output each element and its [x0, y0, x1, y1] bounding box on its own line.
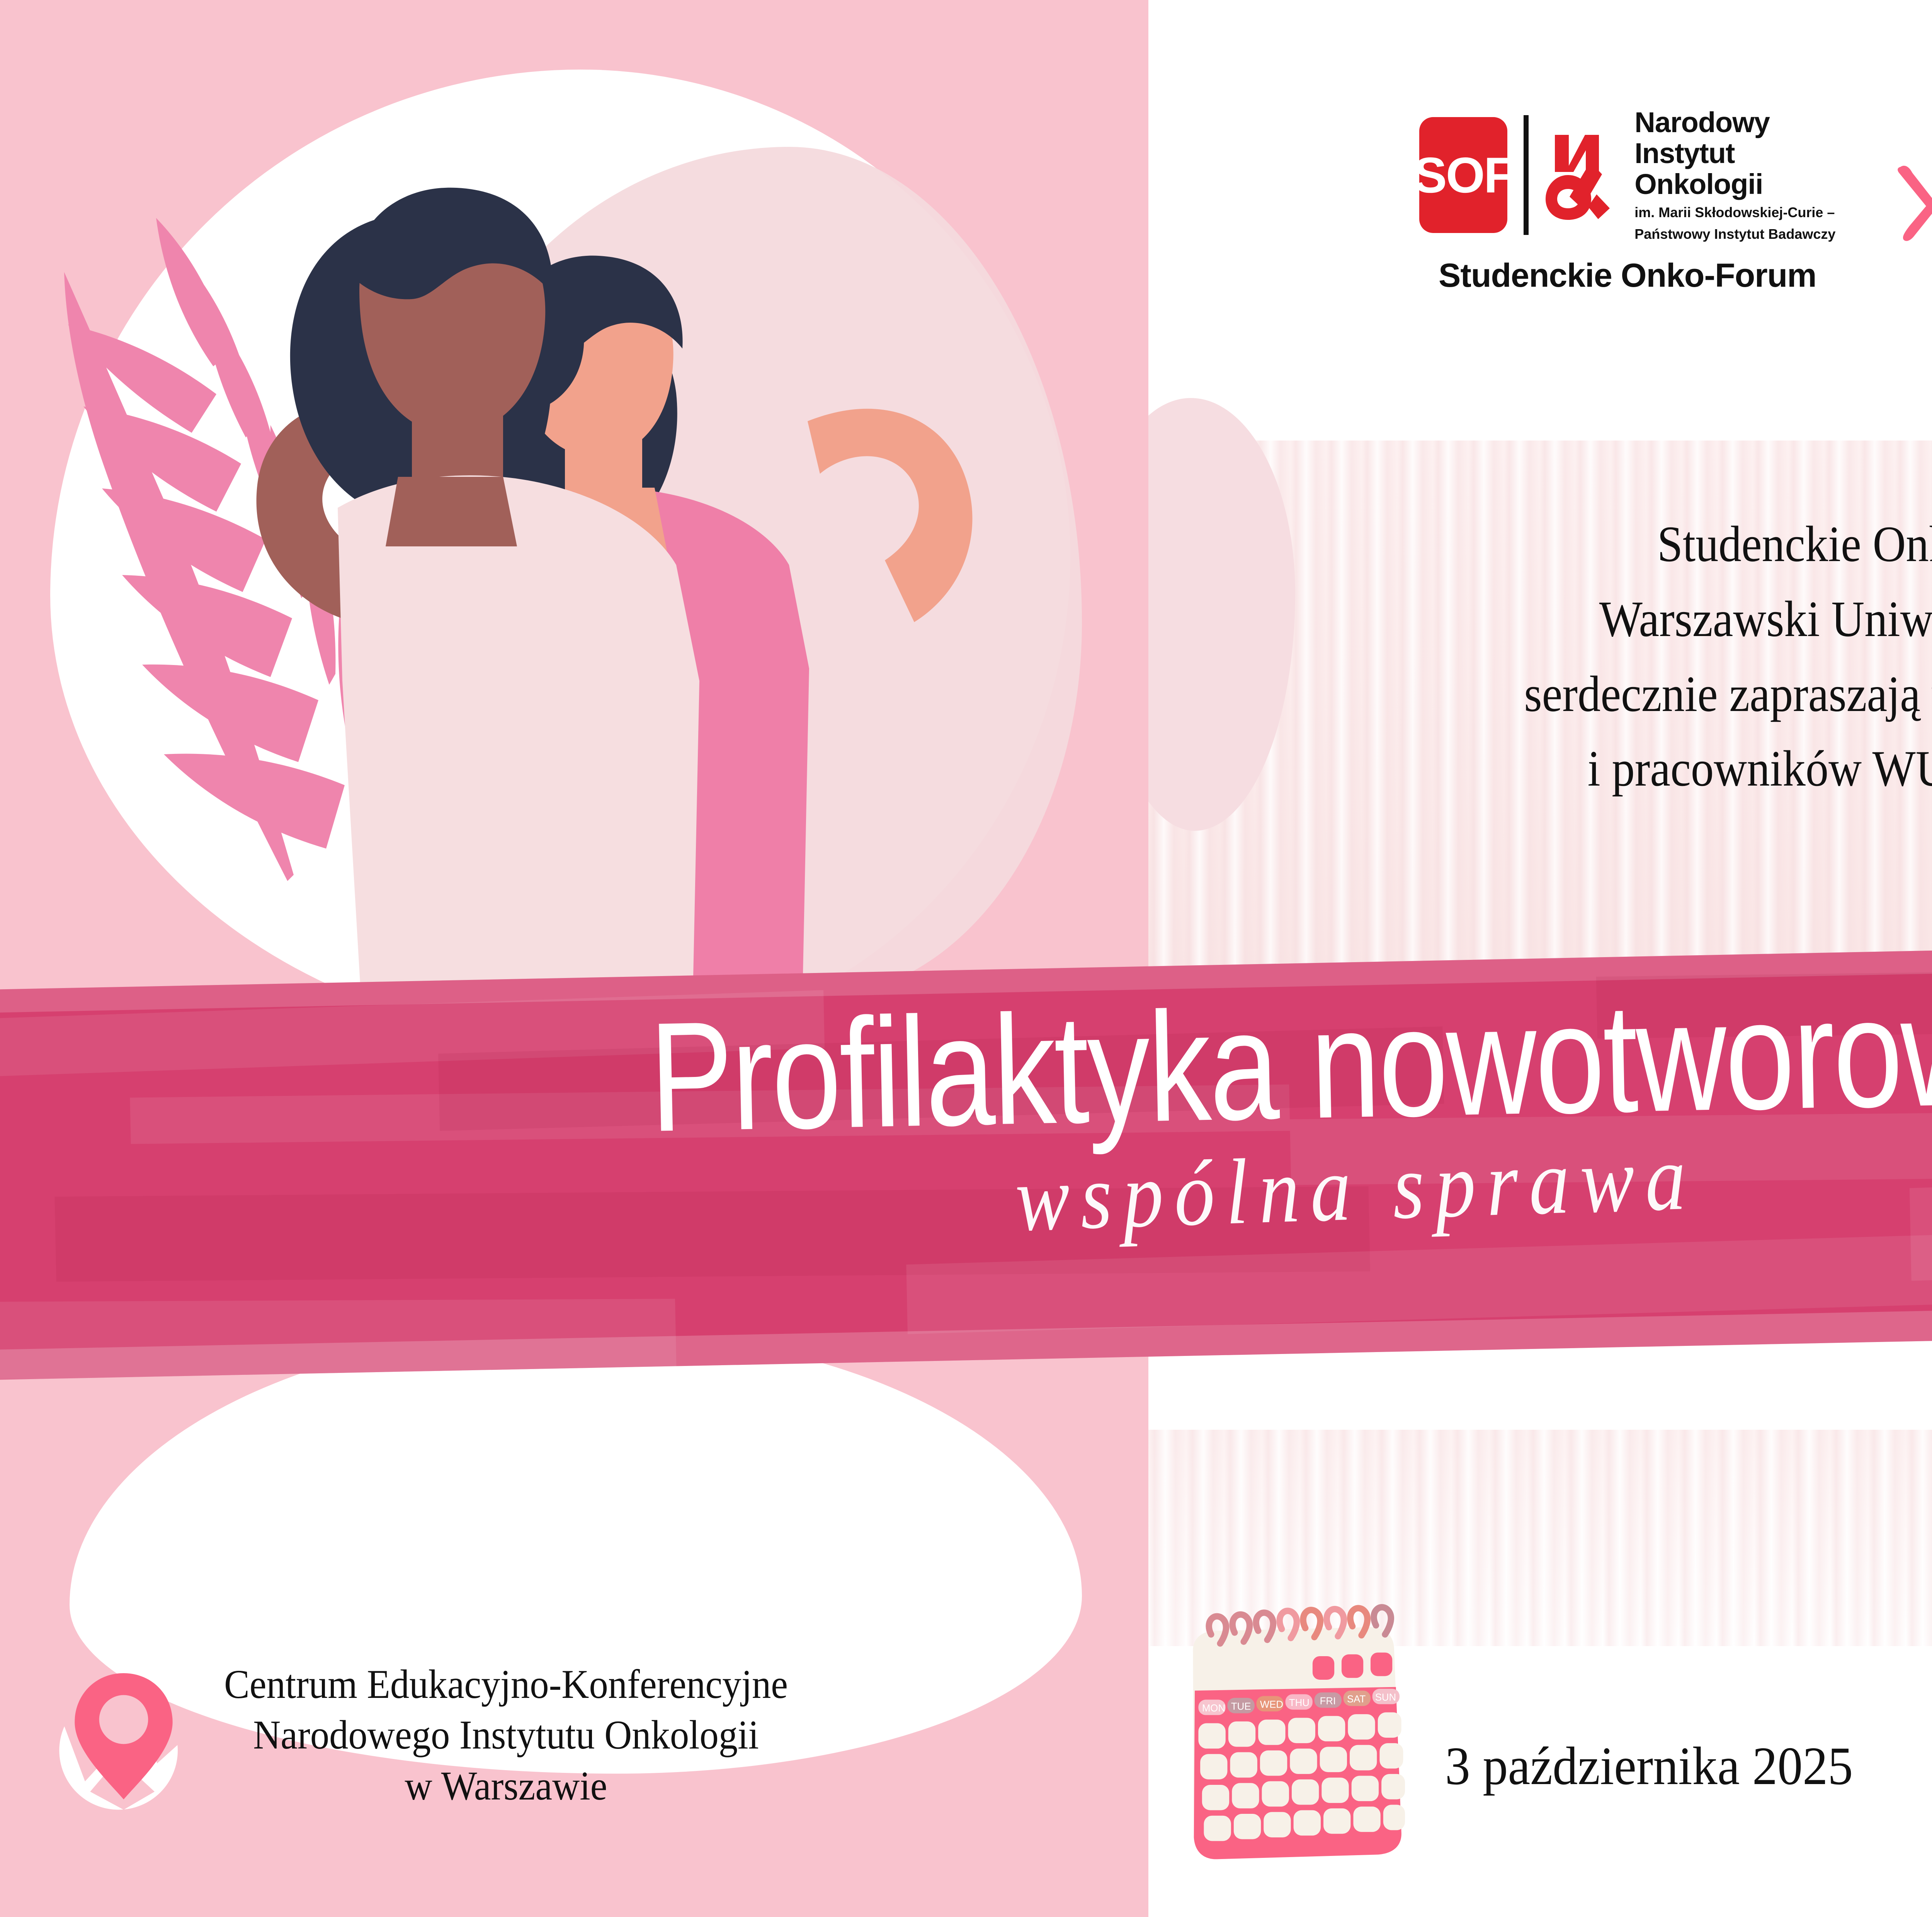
nio-wordmark: Narodowy Instytut Onkologii im. Marii Sk…: [1634, 107, 1835, 243]
sof-badge: SOF: [1419, 117, 1507, 233]
invitation-line-4: i pracowników WUM na konferencję: [1271, 738, 1932, 799]
invitation-text: Studenckie Onko-Forum oraz Warszawski Un…: [1198, 514, 1932, 813]
sof-logo: SOF Narodowy Instytut Onkologii im. Mari…: [1419, 107, 1835, 295]
event-date: 3 października 2025: [1445, 1735, 1853, 1797]
calendar-day-mon: MON: [1202, 1703, 1225, 1714]
nio-line-2: Instytut: [1634, 138, 1835, 169]
logo-row: SOF Narodowy Instytut Onkologii im. Mari…: [1148, 66, 1932, 336]
calendar-day-sat: SAT: [1347, 1694, 1366, 1705]
venue-address: Centrum Edukacyjno-Konferencyjne Narodow…: [224, 1659, 788, 1811]
conference-poster: SOF Narodowy Instytut Onkologii im. Mari…: [0, 0, 1932, 1917]
x-brush-mark-icon: [1886, 156, 1932, 245]
calendar-day-sun: SUN: [1375, 1692, 1396, 1703]
nio-subtitle-2: Państwowy Instytut Badawczy: [1634, 226, 1835, 243]
venue-line-1: Centrum Edukacyjno-Konferencyjne: [224, 1659, 788, 1709]
sof-badge-text: SOF: [1413, 150, 1513, 200]
nio-line-1: Narodowy: [1634, 107, 1835, 138]
logo-divider-rule: [1524, 115, 1529, 235]
invitation-line-2: Warszawski Uniwersytet Medyczny: [1271, 589, 1932, 649]
calendar-day-fri: FRI: [1320, 1696, 1336, 1706]
sof-caption: Studenckie Onko-Forum: [1439, 257, 1816, 295]
calendar-day-wed: WED: [1260, 1699, 1283, 1710]
calendar-day-tue: TUE: [1231, 1701, 1251, 1712]
calendar-day-thu: THU: [1289, 1698, 1310, 1708]
venue-block: Centrum Edukacyjno-Konferencyjne Narodow…: [46, 1658, 1128, 1812]
calendar-icon: MON TUE WED THU FRI SAT SUN: [1175, 1604, 1414, 1866]
invitation-line-3: serdecznie zapraszają wszystkich student…: [1271, 664, 1932, 724]
title-banner: [0, 934, 1932, 1380]
date-block: MON TUE WED THU FRI SAT SUN: [1175, 1604, 1868, 1866]
left-illustration-panel: [0, 0, 1148, 1917]
brush-stroke: [1290, 1107, 1932, 1185]
invitation-line-1: Studenckie Onko-Forum oraz: [1271, 514, 1932, 574]
nio-line-3: Onkologii: [1634, 169, 1835, 200]
nio-subtitle-1: im. Marii Skłodowskiej-Curie –: [1634, 204, 1835, 221]
brush-stroke: [0, 1299, 677, 1379]
venue-line-3: w Warszawie: [224, 1761, 788, 1811]
map-pin-icon: [46, 1658, 201, 1812]
venue-line-2: Narodowego Instytutu Onkologii: [224, 1709, 788, 1760]
nio-monogram-icon: [1545, 129, 1618, 221]
